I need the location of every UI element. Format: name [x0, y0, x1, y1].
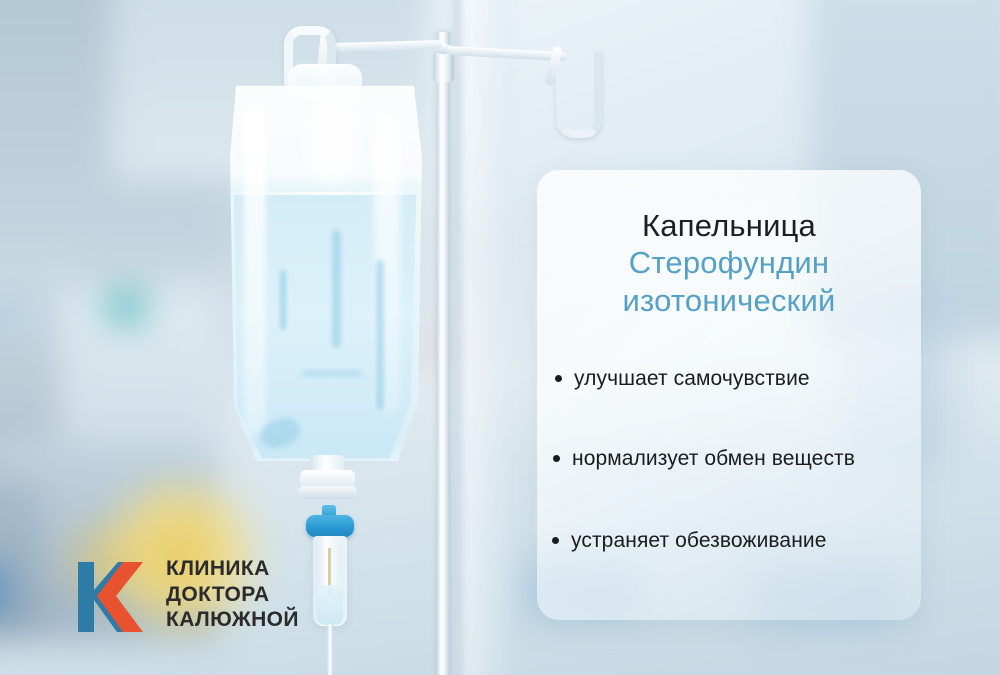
logo-line-3: КАЛЮЖНОЙ — [166, 607, 299, 633]
banner-canvas: Капельница Стерофундин изотонический улу… — [0, 0, 1000, 675]
iv-bag-liquid — [230, 195, 420, 461]
bg-sticker-teal — [105, 292, 147, 324]
info-card: Капельница Стерофундин изотонический улу… — [537, 170, 921, 620]
logo-kk-mark-icon — [76, 560, 156, 634]
benefit-item-3: устраняет обезвоживание — [544, 527, 921, 554]
logo-wordmark: КЛИНИКА ДОКТОРА КАЛЮЖНОЙ — [166, 556, 299, 633]
logo-line-2: ДОКТОРА — [166, 582, 299, 608]
iv-tubing — [327, 624, 333, 675]
drip-spike-ring — [298, 486, 357, 499]
drip-cap-blue — [306, 515, 354, 537]
iv-pole-vertical — [437, 32, 450, 675]
bg-sticker-blue-1 — [0, 295, 18, 335]
iv-fluid-bag — [224, 70, 426, 465]
benefits-list: улучшает самочувствие нормализует обмен … — [537, 365, 921, 554]
card-title-block: Капельница Стерофундин изотонический — [537, 208, 921, 320]
bg-cabinet-d — [0, 480, 40, 640]
logo-line-1: КЛИНИКА — [166, 556, 299, 582]
bg-glass-door-frame — [452, 0, 460, 675]
clinic-logo[interactable]: КЛИНИКА ДОКТОРА КАЛЮЖНОЙ — [76, 556, 326, 638]
benefit-item-1: улучшает самочувствие — [546, 365, 921, 392]
iv-pole-hook-right — [556, 52, 602, 138]
benefit-item-2: нормализует обмен веществ — [544, 445, 921, 472]
iv-pole-collar — [433, 52, 454, 82]
card-title-line-1: Капельница — [537, 208, 921, 244]
bg-glass-door-pane — [460, 0, 512, 675]
card-title-line-3: изотонический — [537, 282, 921, 320]
card-title-line-2: Стерофундин — [537, 244, 921, 282]
iv-bag-fill-line — [234, 192, 416, 195]
bg-sticker-blue-2 — [22, 298, 48, 334]
